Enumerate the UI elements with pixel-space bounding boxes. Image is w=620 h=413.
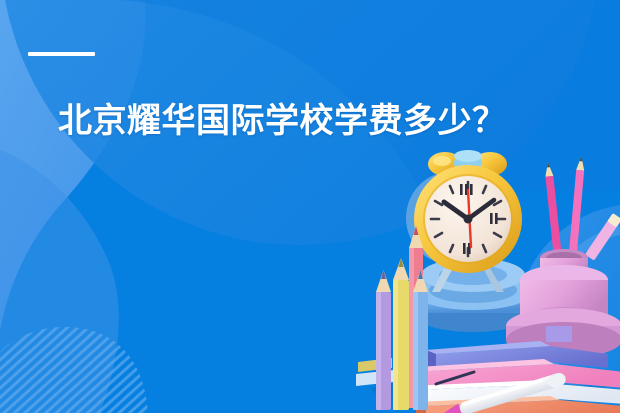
- clock-center-pin: [464, 215, 473, 224]
- pencil-purple: [376, 270, 391, 410]
- pencil-blue: [413, 270, 428, 410]
- cup-pencils: [544, 156, 620, 261]
- colored-pencils: [376, 226, 428, 410]
- pencil-yellow: [393, 258, 409, 410]
- page-title: 北京耀华国际学校学费多少？: [58, 101, 507, 141]
- school-supplies-illustration: [340, 140, 620, 413]
- title-accent-rule: [28, 52, 95, 56]
- poster-canvas: 北京耀华国际学校学费多少？: [0, 0, 620, 413]
- pencil-cup-group: [506, 156, 620, 358]
- cup-base-accent: [546, 326, 572, 342]
- eraser-stick: [585, 213, 620, 261]
